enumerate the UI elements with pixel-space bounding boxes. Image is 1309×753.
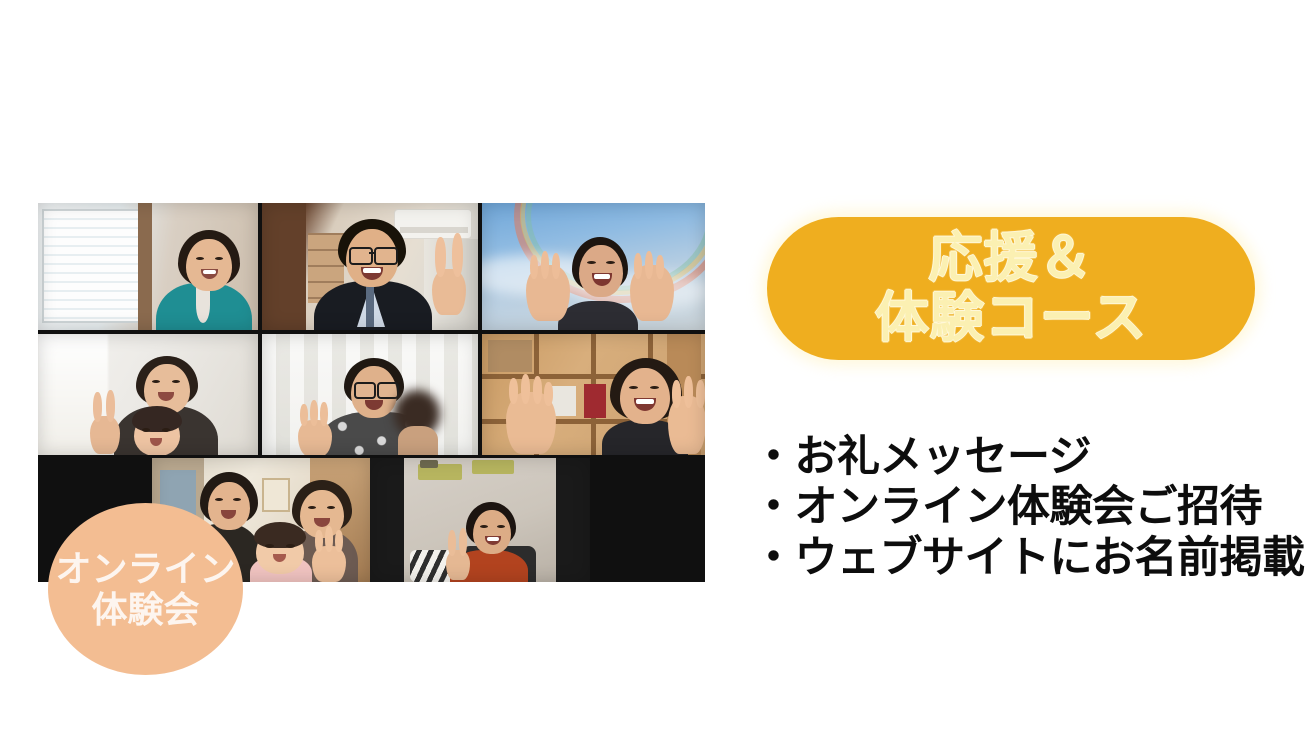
benefit-item-3: ・ウェブサイトにお名前掲載: [752, 533, 1282, 583]
pill-badge-line-2: 体験コース: [875, 291, 1147, 346]
video-tile-1[interactable]: [38, 203, 258, 330]
slide-canvas: オンライン 体験会 応援＆ 体験コース ・お礼メッセージ ・オンライン体験会ご招…: [0, 0, 1309, 753]
tile-8-head: [473, 510, 511, 554]
circle-badge-line-2: 体験会: [91, 591, 199, 629]
tile-1-head: [186, 239, 232, 291]
benefit-item-2: ・オンライン体験会ご招待: [752, 482, 1282, 532]
video-tile-2[interactable]: [262, 203, 478, 330]
video-tile-6[interactable]: [482, 334, 705, 455]
tile-4-scene: [38, 334, 258, 455]
pill-badge-line-1: 応援＆: [929, 231, 1094, 286]
tile-2-scene: [262, 203, 478, 330]
circle-badge-line-1: オンライン: [55, 550, 235, 588]
tile-5-scene: [262, 334, 478, 455]
tile-1-scene: [38, 203, 258, 330]
tile-6-scene: [482, 334, 705, 455]
video-tile-4[interactable]: [38, 334, 258, 455]
tile-7-adult-left-head: [208, 482, 250, 530]
tile-8-scene: [370, 458, 590, 582]
benefit-list: ・お礼メッセージ ・オンライン体験会ご招待 ・ウェブサイトにお名前掲載: [752, 432, 1282, 583]
benefit-item-1: ・お礼メッセージ: [752, 432, 1282, 482]
tile-3-scene: [482, 203, 705, 330]
tile-3-head: [579, 245, 623, 297]
tile-6-head: [620, 368, 670, 424]
circle-badge-online-experience: オンライン 体験会: [48, 503, 243, 675]
video-tile-3[interactable]: [482, 203, 705, 330]
video-tile-5[interactable]: [262, 334, 478, 455]
pill-badge-course-title: 応援＆ 体験コース: [767, 217, 1255, 360]
tile-2-peace-hand: [432, 269, 466, 315]
video-tile-8[interactable]: [370, 458, 590, 582]
